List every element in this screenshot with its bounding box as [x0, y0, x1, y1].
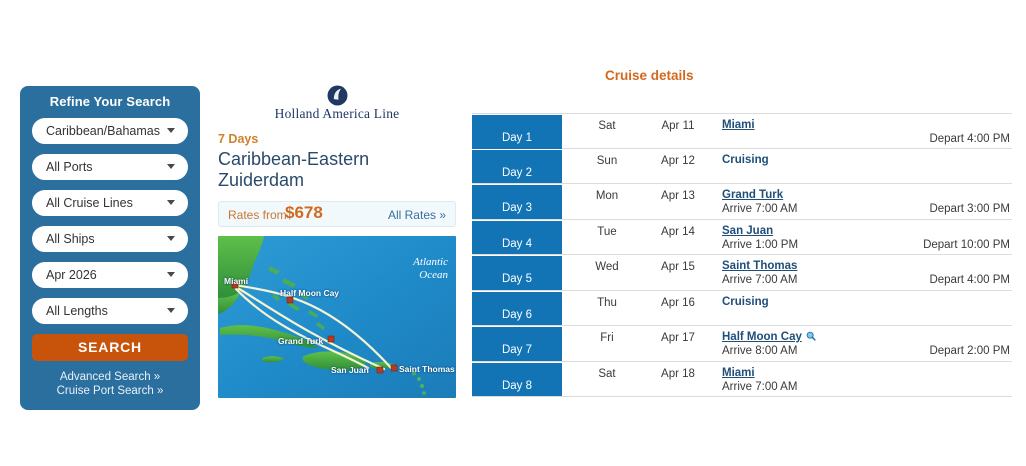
day-cell: Day 4 — [472, 221, 562, 255]
select-ports-value: All Ports — [46, 155, 93, 179]
day-cell: Day 2 — [472, 150, 562, 184]
day-of-week: Fri — [582, 332, 632, 344]
cruise-details-heading: Cruise details — [605, 68, 694, 83]
select-ships-value: All Ships — [46, 227, 95, 251]
day-cell: Day 6 — [472, 292, 562, 326]
refine-fields-group: Caribbean/BahamasAll PortsAll Cruise Lin… — [20, 118, 200, 324]
select-ports[interactable]: All Ports — [32, 154, 188, 180]
date-cell: Apr 14 — [650, 226, 706, 238]
chevron-down-icon — [167, 164, 175, 169]
refine-links: Advanced Search » Cruise Port Search » — [20, 370, 200, 398]
arrival-time: Arrive 7:00 AM — [722, 203, 797, 215]
itinerary-row: Day 3MonApr 13Grand TurkArrive 7:00 AMDe… — [472, 184, 1012, 220]
day-cell: Day 7 — [472, 327, 562, 361]
port-label: Half Moon Cay — [722, 331, 802, 343]
select-destination-value: Caribbean/Bahamas — [46, 119, 160, 143]
port-label: Miami — [722, 367, 755, 379]
day-of-week: Thu — [582, 297, 632, 309]
day-of-week: Sun — [582, 155, 632, 167]
holland-america-crest-icon — [327, 85, 348, 106]
itinerary-row: Day 4TueApr 14San JuanArrive 1:00 PMDepa… — [472, 220, 1012, 256]
chevron-down-icon — [167, 236, 175, 241]
map-port-label-san-juan: San Juan — [331, 365, 369, 375]
cruise-summary-column: Holland America Line 7 Days Caribbean-Ea… — [218, 84, 456, 398]
day-of-week: Sat — [582, 368, 632, 380]
arrival-time: Arrive 8:00 AM — [722, 345, 797, 357]
port-label: San Juan — [722, 225, 773, 237]
day-of-week: Wed — [582, 261, 632, 273]
date-cell: Apr 17 — [650, 332, 706, 344]
rates-price: $678 — [285, 203, 323, 223]
date-cell: Apr 12 — [650, 155, 706, 167]
cruise-itinerary-name: Caribbean-Eastern — [218, 149, 456, 170]
chevron-down-icon — [167, 128, 175, 133]
port-link[interactable]: Half Moon Cay — [722, 331, 816, 344]
port-label: Grand Turk — [722, 189, 783, 201]
date-cell: Apr 11 — [650, 120, 706, 132]
select-ships[interactable]: All Ships — [32, 226, 188, 252]
day-cell: Day 1 — [472, 115, 562, 149]
port-label: Miami — [722, 119, 755, 131]
cruise-line-name: Holland America Line — [218, 107, 456, 121]
rates-from-label: Rates from — [228, 208, 287, 222]
select-lengths[interactable]: All Lengths — [32, 298, 188, 324]
cruise-title: Caribbean-Eastern Zuiderdam — [218, 149, 456, 191]
map-port-label-half-moon-cay: Half Moon Cay — [280, 288, 339, 298]
refine-search-panel: Refine Your Search Caribbean/BahamasAll … — [20, 86, 200, 410]
port-name: Cruising — [722, 154, 769, 166]
cruise-port-search-link[interactable]: Cruise Port Search » — [20, 384, 200, 398]
select-month-value: Apr 2026 — [46, 263, 97, 287]
chevron-down-icon — [167, 272, 175, 277]
port-link[interactable]: San Juan — [722, 225, 773, 237]
departure-time: Depart 10:00 PM — [923, 239, 1010, 251]
itinerary-row: Day 6ThuApr 16Cruising — [472, 291, 1012, 327]
departure-time: Depart 3:00 PM — [929, 203, 1010, 215]
cruise-line-logo: Holland America Line — [218, 84, 456, 121]
arrival-time: Arrive 7:00 AM — [722, 274, 797, 286]
itinerary-row: Day 7FriApr 17Half Moon CayArrive 8:00 A… — [472, 326, 1012, 362]
select-cruise-lines[interactable]: All Cruise Lines — [32, 190, 188, 216]
day-cell: Day 5 — [472, 256, 562, 290]
select-cruise-lines-value: All Cruise Lines — [46, 191, 133, 215]
port-name: Cruising — [722, 296, 769, 308]
all-rates-link[interactable]: All Rates » — [388, 208, 446, 222]
date-cell: Apr 13 — [650, 190, 706, 202]
rates-bar: Rates from $678 All Rates » — [218, 201, 456, 227]
departure-time: Depart 2:00 PM — [929, 345, 1010, 357]
arrival-time: Arrive 1:00 PM — [722, 239, 798, 251]
itinerary-row: Day 1SatApr 11MiamiDepart 4:00 PM — [472, 113, 1012, 149]
search-button[interactable]: SEARCH — [32, 334, 188, 361]
port-link[interactable]: Grand Turk — [722, 189, 783, 201]
day-cell: Day 3 — [472, 185, 562, 219]
select-month[interactable]: Apr 2026 — [32, 262, 188, 288]
port-link[interactable]: Miami — [722, 367, 755, 379]
day-of-week: Tue — [582, 226, 632, 238]
map-ocean-label: AtlanticOcean — [413, 256, 448, 282]
day-cell: Day 8 — [472, 363, 562, 397]
departure-time: Depart 4:00 PM — [929, 274, 1010, 286]
map-port-label-saint-thomas: Saint Thomas — [399, 364, 455, 374]
port-label: Cruising — [722, 154, 769, 166]
chevron-down-icon — [167, 200, 175, 205]
map-port-label-grand-turk: Grand Turk — [278, 336, 323, 346]
magnifier-icon[interactable] — [806, 331, 816, 344]
cruise-ship-name: Zuiderdam — [218, 170, 456, 191]
cruise-duration: 7 Days — [218, 132, 456, 147]
departure-time: Depart 4:00 PM — [929, 133, 1010, 145]
day-of-week: Sat — [582, 120, 632, 132]
itinerary-map[interactable]: AtlanticOcean Miami Half Moon Cay Grand … — [218, 236, 456, 398]
day-of-week: Mon — [582, 190, 632, 202]
port-label: Saint Thomas — [722, 260, 797, 272]
itinerary-row: Day 8SatApr 18MiamiArrive 7:00 AM — [472, 362, 1012, 398]
date-cell: Apr 16 — [650, 297, 706, 309]
port-label: Cruising — [722, 296, 769, 308]
date-cell: Apr 15 — [650, 261, 706, 273]
map-port-label-miami: Miami — [224, 276, 248, 286]
itinerary-row: Day 5WedApr 15Saint ThomasArrive 7:00 AM… — [472, 255, 1012, 291]
select-destination[interactable]: Caribbean/Bahamas — [32, 118, 188, 144]
itinerary-table: Day 1SatApr 11MiamiDepart 4:00 PMDay 2Su… — [472, 113, 1012, 397]
port-link[interactable]: Miami — [722, 119, 755, 131]
chevron-down-icon — [167, 308, 175, 313]
date-cell: Apr 18 — [650, 368, 706, 380]
itinerary-row: Day 2SunApr 12Cruising — [472, 149, 1012, 185]
select-lengths-value: All Lengths — [46, 299, 108, 323]
port-link[interactable]: Saint Thomas — [722, 260, 797, 272]
arrival-time: Arrive 7:00 AM — [722, 381, 797, 393]
refine-search-title: Refine Your Search — [20, 86, 200, 118]
advanced-search-link[interactable]: Advanced Search » — [20, 370, 200, 384]
